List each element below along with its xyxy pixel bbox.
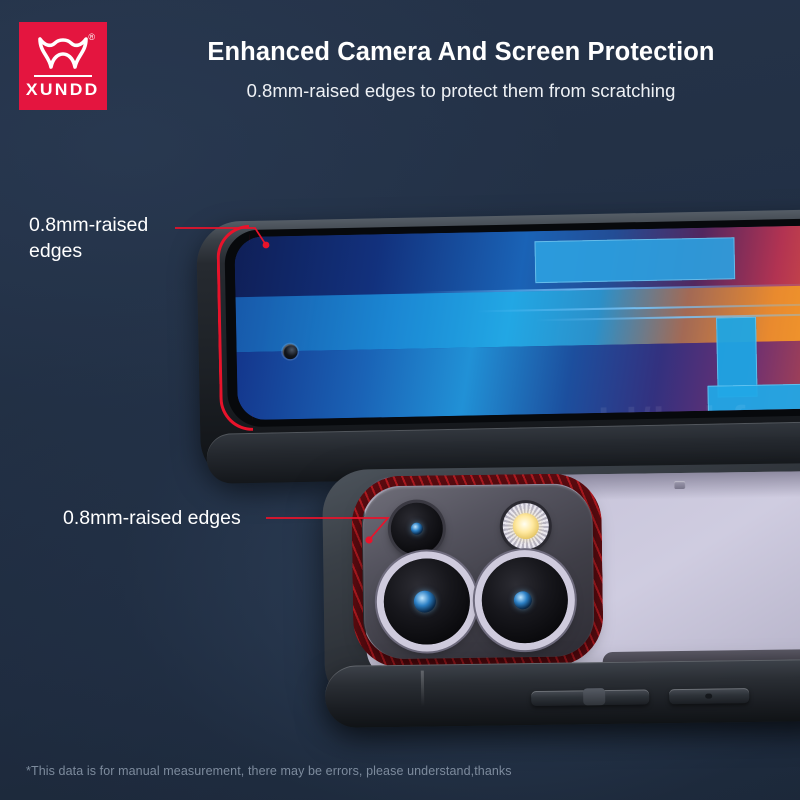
callout-leader-line-camera-edge [0,0,800,800]
disclaimer-text: *This data is for manual measurement, th… [26,764,512,778]
product-marketing-banner: ® XUNDD Enhanced Camera And Screen Prote… [0,0,800,800]
